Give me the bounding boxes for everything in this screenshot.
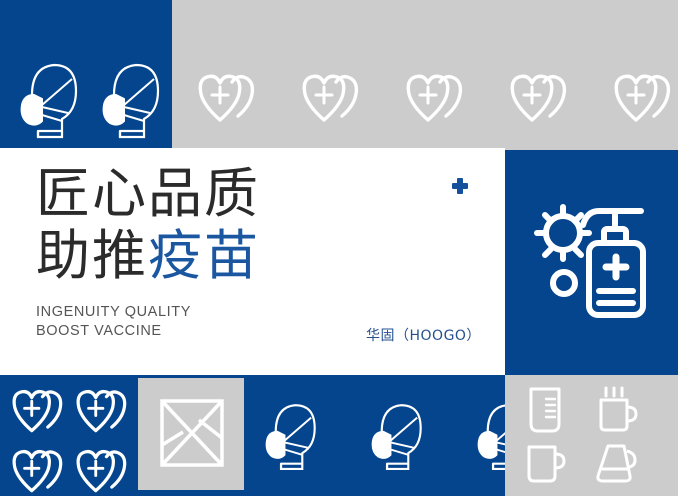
virus-icon — [537, 207, 589, 259]
double-heart-plus-icon — [508, 70, 570, 126]
brand-name: 华固（HOOGO） — [366, 325, 481, 345]
poster-canvas: 匠心品质 助推疫苗 INGENUITY QUALITY BOOST VACCIN… — [0, 0, 678, 496]
vessel-icon-group — [524, 386, 640, 486]
kettle-icon — [594, 442, 640, 486]
double-heart-plus-icon — [74, 446, 130, 496]
headline-line-2: 助推疫苗 — [36, 225, 260, 287]
image-placeholder-icon — [159, 398, 225, 468]
sanitizer-bottle-icon — [583, 211, 643, 315]
image-placeholder-panel — [138, 378, 244, 490]
headline-line-2-accent: 疫苗 — [148, 224, 260, 287]
dot-icon — [553, 272, 575, 294]
beaker-icon — [524, 386, 570, 434]
double-heart-icon-group-bottom — [10, 386, 130, 496]
sanitizer-icon-group — [531, 197, 653, 325]
masked-head-icon-group-bottom — [258, 396, 532, 472]
double-heart-plus-icon — [196, 70, 258, 126]
masked-head-icon — [94, 55, 164, 140]
double-heart-plus-icon — [612, 70, 674, 126]
double-heart-plus-icon — [10, 386, 66, 436]
masked-head-icon — [258, 396, 320, 472]
subtitle-line-2: BOOST VACCINE — [36, 322, 191, 341]
double-heart-plus-icon — [74, 386, 130, 436]
double-heart-plus-icon — [10, 446, 66, 496]
headline-line-1: 匠心品质 — [36, 163, 260, 225]
mug-icon — [524, 442, 570, 486]
subtitle-line-1: INGENUITY QUALITY — [36, 303, 191, 322]
headline-block: 匠心品质 助推疫苗 — [36, 163, 260, 287]
masked-head-icon — [364, 396, 426, 472]
masked-head-icon — [12, 55, 82, 140]
double-heart-plus-icon — [300, 70, 362, 126]
plus-icon — [452, 178, 468, 194]
masked-head-icon-group-top — [12, 55, 164, 140]
double-heart-plus-icon — [404, 70, 466, 126]
steaming-mug-icon — [594, 386, 640, 434]
double-heart-icon-group-top — [196, 70, 674, 126]
headline-line-2-dark: 助推 — [36, 224, 148, 287]
subtitle-block: INGENUITY QUALITY BOOST VACCINE — [36, 303, 191, 341]
